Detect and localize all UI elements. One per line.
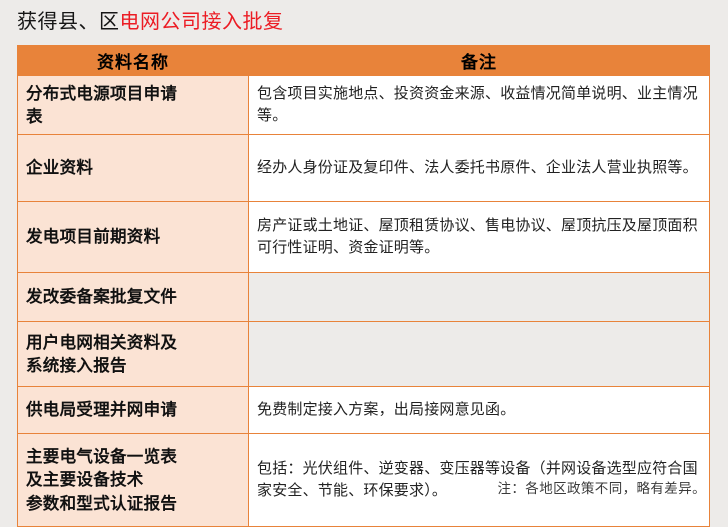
document-name-line: 企业资料 (26, 156, 244, 179)
document-name-cell: 主要电气设备一览表 及主要设备技术 参数和型式认证报告 (18, 434, 249, 527)
remarks-cell: 包含项目实施地点、投资资金来源、收益情况简单说明、业主情况等。 (249, 76, 710, 135)
table-row: 供电局受理并网申请 免费制定接入方案，出局接网意见函。 (18, 387, 710, 434)
document-name-cell: 发电项目前期资料 (18, 202, 249, 273)
document-name-line: 及主要设备技术 (26, 468, 244, 491)
table-row: 发电项目前期资料 房产证或土地证、屋顶租赁协议、售电协议、屋顶抗压及屋顶面积可行… (18, 202, 710, 273)
document-name-cell: 供电局受理并网申请 (18, 387, 249, 434)
table-row: 用户电网相关资料及 系统接入报告 (18, 322, 710, 387)
page-title-primary: 获得县、区 (17, 9, 120, 33)
page-title: 获得县、区电网公司接入批复 (17, 5, 284, 38)
document-name-line: 表 (26, 105, 244, 128)
document-name-line: 分布式电源项目申请 (26, 82, 244, 105)
table-header-row: 资料名称 备注 (18, 46, 710, 76)
document-name-cell: 企业资料 (18, 135, 249, 202)
table-body: 分布式电源项目申请 表 包含项目实施地点、投资资金来源、收益情况简单说明、业主情… (18, 76, 710, 527)
document-name-line: 发电项目前期资料 (26, 225, 244, 248)
document-name-line: 供电局受理并网申请 (26, 398, 244, 421)
table-row: 发改委备案批复文件 (18, 273, 710, 322)
document-name-line: 主要电气设备一览表 (26, 445, 244, 468)
document-name-cell: 用户电网相关资料及 系统接入报告 (18, 322, 249, 387)
table-row: 分布式电源项目申请 表 包含项目实施地点、投资资金来源、收益情况简单说明、业主情… (18, 76, 710, 135)
document-name-cell: 发改委备案批复文件 (18, 273, 249, 322)
required-documents-table: 资料名称 备注 分布式电源项目申请 表 包含项目实施地点、投资资金来源、收益情况… (17, 45, 710, 527)
document-name-line: 系统接入报告 (26, 354, 244, 377)
document-name-cell: 分布式电源项目申请 表 (18, 76, 249, 135)
document-name-line: 参数和型式认证报告 (26, 492, 244, 515)
remarks-cell (249, 322, 710, 387)
remarks-cell (249, 273, 710, 322)
document-name-line: 用户电网相关资料及 (26, 331, 244, 354)
footer-note: 注：各地区政策不同，略有差异。 (498, 477, 707, 497)
table-row: 企业资料 经办人身份证及复印件、法人委托书原件、企业法人营业执照等。 (18, 135, 710, 202)
page-title-highlight: 电网公司接入批复 (120, 9, 284, 33)
column-header-remarks: 备注 (249, 46, 710, 76)
remarks-cell: 免费制定接入方案，出局接网意见函。 (249, 387, 710, 434)
document-name-line: 发改委备案批复文件 (26, 285, 244, 308)
remarks-cell: 经办人身份证及复印件、法人委托书原件、企业法人营业执照等。 (249, 135, 710, 202)
table-header: 资料名称 备注 (18, 46, 710, 76)
remarks-cell: 房产证或土地证、屋顶租赁协议、售电协议、屋顶抗压及屋顶面积可行性证明、资金证明等… (249, 202, 710, 273)
column-header-document-name: 资料名称 (18, 46, 249, 76)
